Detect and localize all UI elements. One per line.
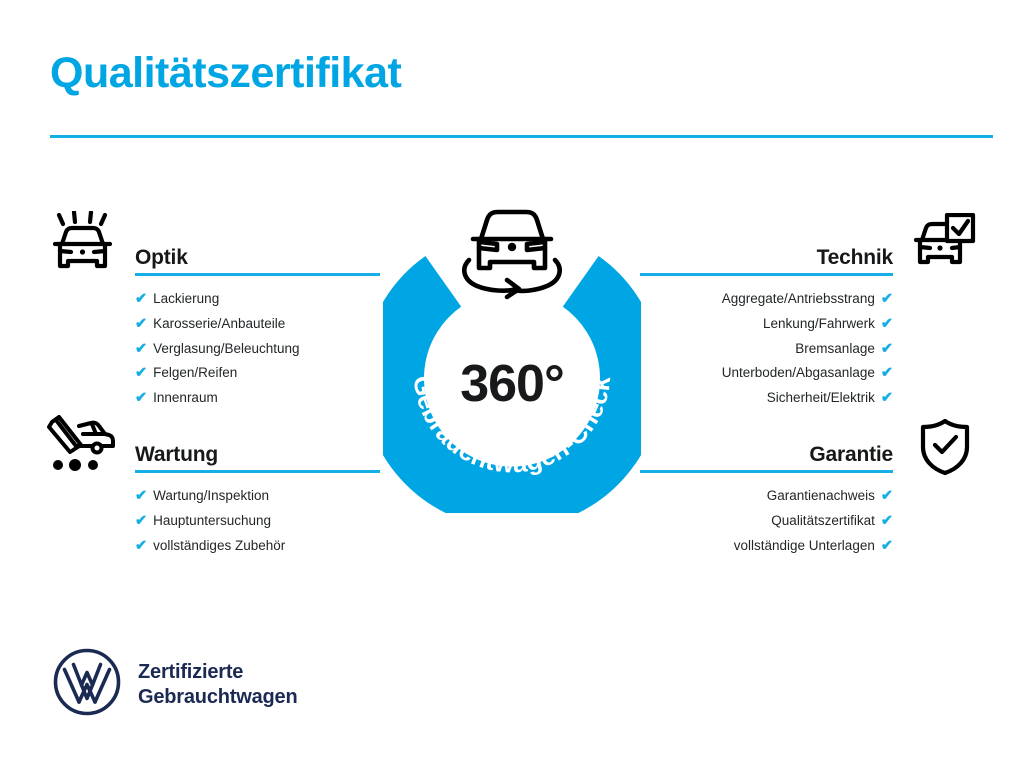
list-item-label: Lackierung — [153, 287, 219, 311]
list-item-label: Hauptuntersuchung — [153, 509, 271, 533]
list-item-label: Felgen/Reifen — [153, 361, 237, 385]
check-icon: ✔ — [135, 362, 147, 386]
list-item-label: vollständiges Zubehör — [153, 534, 285, 558]
section-optik: Optik ✔Lackierung ✔Karosserie/Anbauteile… — [135, 236, 380, 427]
list-item-label: Unterboden/Abgasanlage — [722, 361, 875, 385]
section-optik-header: Optik — [135, 236, 380, 276]
shield-check-icon — [919, 418, 971, 481]
check-icon: ✔ — [881, 362, 893, 386]
check-icon: ✔ — [135, 535, 147, 559]
list-item: ✔Hauptuntersuchung — [135, 509, 380, 534]
car-rotate-icon — [455, 198, 569, 307]
vw-lockup-line1: Zertifizierte — [138, 660, 297, 685]
list-item-label: Wartung/Inspektion — [153, 484, 269, 508]
list-item: Aggregate/Antriebsstrang✔ — [640, 287, 893, 312]
list-item: vollständige Unterlagen✔ — [640, 534, 893, 559]
list-item: ✔Lackierung — [135, 287, 380, 312]
check-icon: ✔ — [881, 387, 893, 411]
check-icon: ✔ — [881, 313, 893, 337]
list-item: ✔Verglasung/Beleuchtung — [135, 337, 380, 362]
check-icon: ✔ — [881, 338, 893, 362]
list-item-label: Sicherheit/Elektrik — [767, 386, 875, 410]
check-icon: ✔ — [135, 288, 147, 312]
check-icon: ✔ — [881, 485, 893, 509]
check-icon: ✔ — [135, 485, 147, 509]
section-wartung: Wartung ✔Wartung/Inspektion ✔Hauptunters… — [135, 433, 380, 574]
check-icon: ✔ — [135, 387, 147, 411]
section-technik-list: Aggregate/Antriebsstrang✔ Lenkung/Fahrwe… — [640, 287, 893, 411]
section-optik-title: Optik — [135, 246, 188, 270]
section-garantie-divider — [640, 470, 893, 473]
list-item: Bremsanlage✔ — [640, 337, 893, 362]
section-garantie: Garantie Garantienachweis✔ Qualitätszert… — [640, 433, 893, 574]
section-technik: Technik Aggregate/Antriebsstrang✔ Lenkun… — [640, 236, 893, 427]
vw-logo — [52, 647, 122, 722]
pencil-car-service-icon — [46, 415, 116, 478]
list-item: Garantienachweis✔ — [640, 484, 893, 509]
check-icon: ✔ — [881, 510, 893, 534]
certificate-page: Qualitätszertifikat — [0, 0, 1024, 768]
section-technik-divider — [640, 273, 893, 276]
check-icon: ✔ — [135, 338, 147, 362]
list-item: ✔Felgen/Reifen — [135, 361, 380, 386]
list-item-label: Aggregate/Antriebsstrang — [722, 287, 875, 311]
list-item-label: vollständige Unterlagen — [734, 534, 875, 558]
list-item: ✔Wartung/Inspektion — [135, 484, 380, 509]
vw-lockup-line2: Gebrauchtwagen — [138, 685, 297, 710]
list-item: Unterboden/Abgasanlage✔ — [640, 361, 893, 386]
section-garantie-list: Garantienachweis✔ Qualitätszertifikat✔ v… — [640, 484, 893, 558]
list-item-label: Karosserie/Anbauteile — [153, 312, 285, 336]
list-item: ✔Innenraum — [135, 386, 380, 411]
section-technik-header: Technik — [640, 236, 893, 276]
vw-lockup: Zertifizierte Gebrauchtwagen — [52, 647, 297, 722]
list-item: Sicherheit/Elektrik✔ — [640, 386, 893, 411]
car-checkbox-icon — [912, 213, 976, 276]
list-item-label: Verglasung/Beleuchtung — [153, 337, 299, 361]
list-item: ✔vollständiges Zubehör — [135, 534, 380, 559]
section-optik-divider — [135, 273, 380, 276]
list-item: ✔Karosserie/Anbauteile — [135, 312, 380, 337]
section-wartung-title: Wartung — [135, 443, 218, 467]
list-item-label: Lenkung/Fahrwerk — [763, 312, 875, 336]
check-icon: ✔ — [881, 288, 893, 312]
section-wartung-list: ✔Wartung/Inspektion ✔Hauptuntersuchung ✔… — [135, 484, 380, 558]
check-icon: ✔ — [135, 510, 147, 534]
section-garantie-header: Garantie — [640, 433, 893, 473]
section-garantie-title: Garantie — [809, 443, 893, 467]
list-item-label: Innenraum — [153, 386, 218, 410]
list-item: Lenkung/Fahrwerk✔ — [640, 312, 893, 337]
list-item-label: Bremsanlage — [795, 337, 875, 361]
check-icon: ✔ — [881, 535, 893, 559]
list-item-label: Garantienachweis — [767, 484, 875, 508]
page-title: Qualitätszertifikat — [50, 52, 401, 95]
list-item-label: Qualitätszertifikat — [771, 509, 875, 533]
section-wartung-divider — [135, 470, 380, 473]
section-wartung-header: Wartung — [135, 433, 380, 473]
car-shine-icon — [47, 211, 113, 280]
vw-lockup-text: Zertifizierte Gebrauchtwagen — [138, 660, 297, 710]
list-item: Qualitätszertifikat✔ — [640, 509, 893, 534]
section-optik-list: ✔Lackierung ✔Karosserie/Anbauteile ✔Verg… — [135, 287, 380, 411]
section-technik-title: Technik — [817, 246, 893, 270]
title-divider — [50, 135, 993, 138]
check-icon: ✔ — [135, 313, 147, 337]
